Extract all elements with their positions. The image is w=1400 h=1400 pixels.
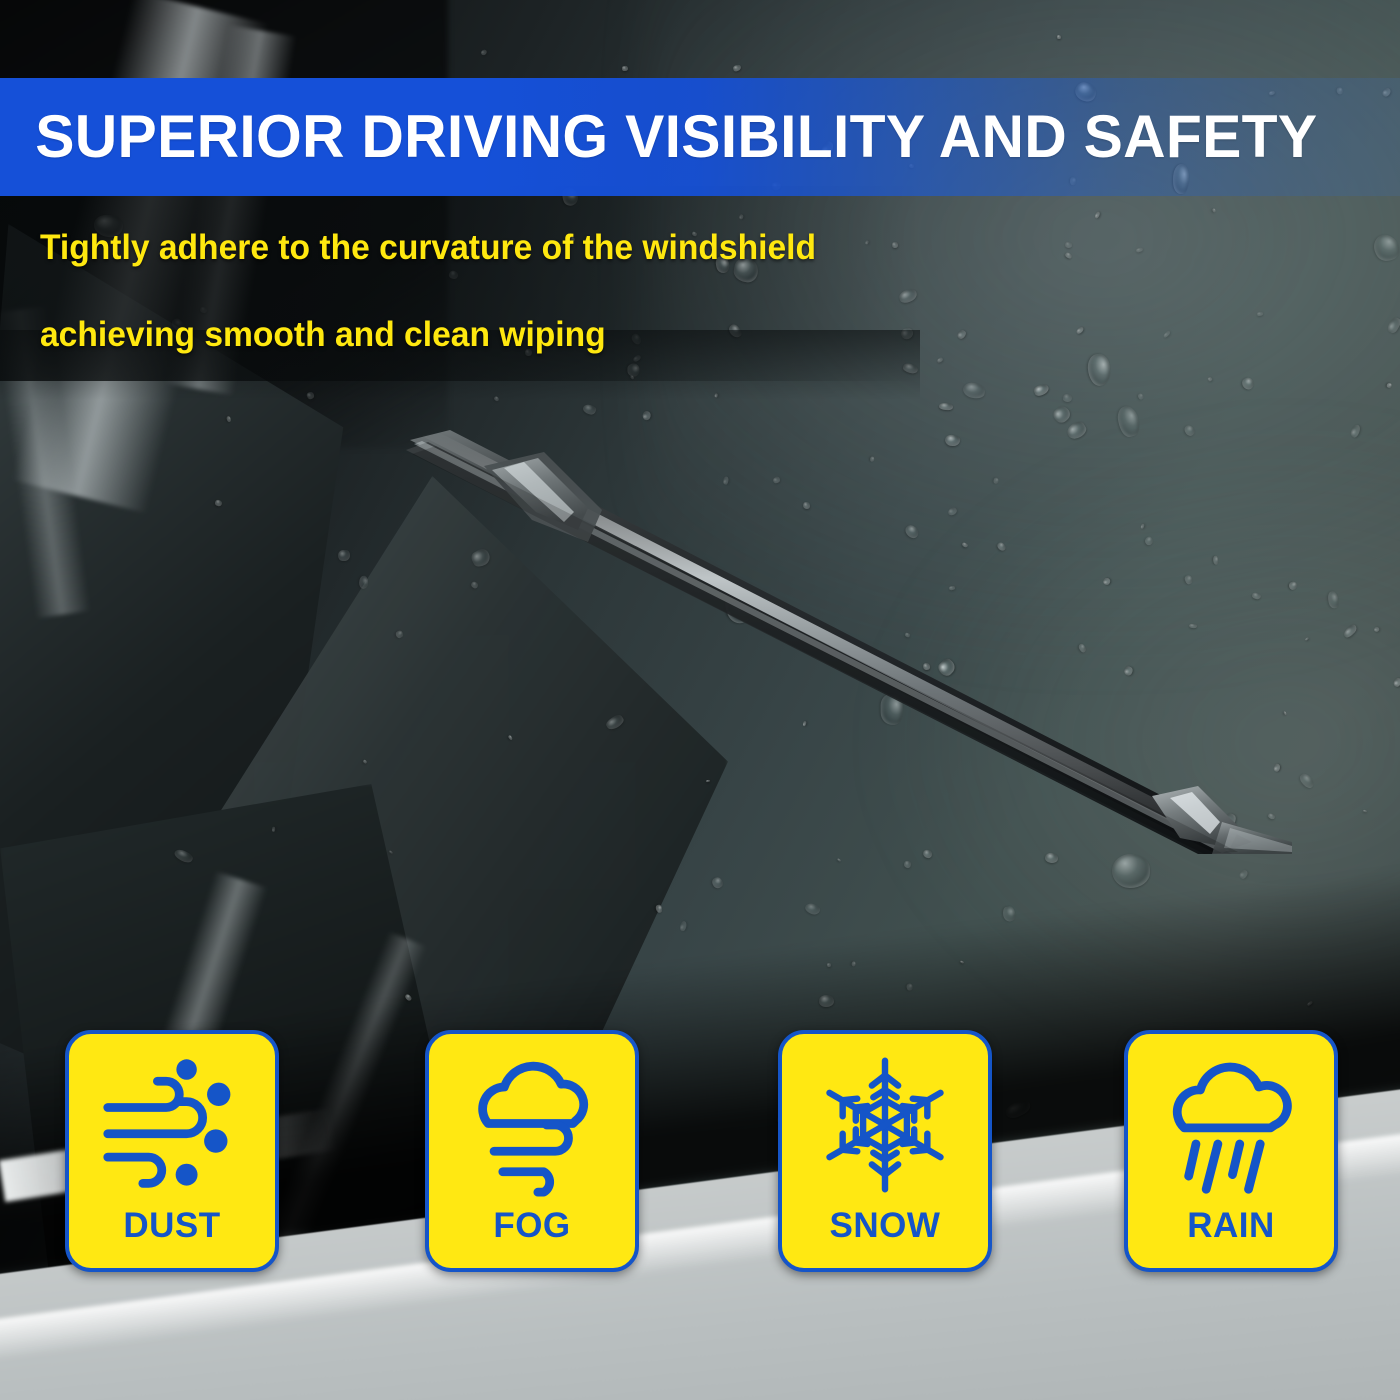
water-drop [1063,394,1073,403]
water-drop [389,850,393,854]
headline-banner: SUPERIOR DRIVING VISIBILITY AND SAFETY [0,78,1400,196]
water-drop [1220,811,1239,831]
water-drop [944,434,960,447]
water-drop [903,523,920,540]
feature-badge-row: DUST FOG [0,1030,1400,1275]
badge-label-snow: SNOW [830,1208,941,1243]
water-drop [582,403,597,415]
water-drop [641,411,650,421]
water-drop [1123,666,1134,677]
water-drop [803,502,811,509]
water-drop [772,476,781,485]
water-drop [1305,637,1309,641]
water-drop [1273,763,1280,772]
water-drop [1207,376,1213,382]
water-drop [1183,574,1193,585]
water-drop [1299,772,1317,791]
water-drop [1251,592,1261,600]
water-drop [1283,711,1287,716]
feature-badge-dust[interactable]: DUST [65,1030,279,1272]
water-drop [1057,35,1061,39]
water-drop [711,876,726,891]
water-drop [938,402,952,410]
water-drop [1144,535,1155,546]
water-drop [1370,230,1400,265]
water-drop [720,587,757,628]
water-drop [1135,247,1143,253]
water-drop [1327,591,1340,610]
subtitle-line-2: achieving smooth and clean wiping [40,317,1058,352]
water-drop [946,506,957,517]
water-drop [1112,854,1150,888]
water-drop [993,478,999,484]
water-drop [889,663,896,670]
water-drop [881,694,904,725]
water-drop [1393,677,1400,688]
water-drop [1183,423,1197,437]
water-drop [1212,208,1217,213]
cloud-fog-icon [457,1052,607,1198]
water-drop [837,858,842,862]
water-drop [1257,311,1263,316]
water-drop [1267,813,1276,821]
water-drop [226,415,232,422]
water-drop [1163,330,1172,339]
feature-badge-rain[interactable]: RAIN [1124,1030,1338,1272]
water-drop [1050,403,1072,425]
water-drop [1385,315,1400,334]
water-drop [905,632,911,637]
water-drop [469,546,492,569]
water-drop [604,713,625,732]
badge-label-dust: DUST [123,1208,220,1243]
subtitle-block: Tightly adhere to the curvature of the w… [40,230,1100,352]
water-drop [470,581,479,590]
water-drop [622,66,628,71]
water-drop [922,663,930,671]
water-drop [1349,424,1361,439]
water-drop [362,759,367,764]
water-drop [1141,524,1145,529]
page-title: SUPERIOR DRIVING VISIBILITY AND SAFETY [0,107,1317,167]
water-drop [214,499,222,507]
water-drop [1240,376,1256,392]
feature-badge-snow[interactable]: SNOW [778,1030,992,1272]
water-drop [961,381,985,401]
water-drop [360,576,369,589]
water-drop [961,542,968,548]
water-drop [804,902,821,917]
water-drop [1078,643,1088,653]
water-drop [723,476,729,485]
wind-dust-icon [97,1052,247,1198]
water-drop [1115,404,1142,439]
water-drop [480,48,488,55]
feature-badge-fog[interactable]: FOG [425,1030,639,1272]
water-drop [903,860,912,868]
water-drop [1212,556,1218,566]
water-drop [507,735,512,740]
water-drop [936,357,943,364]
water-drop [1044,852,1059,865]
water-drop [1032,383,1050,398]
water-drop [798,615,804,620]
badge-label-fog: FOG [493,1208,570,1243]
water-drop [1343,623,1359,640]
water-drop [803,721,807,727]
water-drop [1362,810,1366,813]
water-drop [732,64,741,72]
snowflake-icon [810,1052,960,1198]
water-drop [1103,577,1111,585]
water-drop [338,550,350,562]
badge-label-rain: RAIN [1187,1208,1275,1243]
water-drop [1373,626,1379,632]
water-drop [679,920,687,931]
subtitle-line-1: Tightly adhere to the curvature of the w… [40,230,1058,265]
water-drop [995,541,1006,552]
water-drop [923,850,934,860]
water-drop [1189,623,1197,628]
water-drop [272,827,275,832]
water-drop [1289,580,1299,590]
water-drop [706,780,710,783]
water-drop [1137,392,1144,399]
cloud-rain-icon [1156,1052,1306,1198]
water-drop [395,630,404,639]
water-drop [1064,420,1088,442]
water-drop [949,585,956,590]
water-drop [655,904,663,913]
water-drop [1094,211,1100,219]
water-drop [936,657,958,679]
water-drop [1387,383,1392,388]
water-drop [173,847,194,865]
water-drop [1086,353,1110,387]
water-drop [1238,869,1248,880]
water-drop [870,457,874,462]
